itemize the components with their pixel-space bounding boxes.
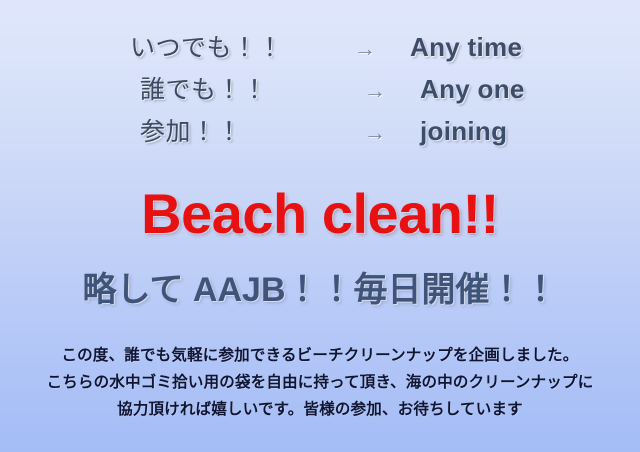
slogan-english-1: Any time	[410, 32, 522, 63]
right-arrow-icon: →	[320, 36, 410, 62]
slogan-english-2: Any one	[420, 74, 525, 105]
slogan-row: いつでも！！ → Any time	[0, 28, 640, 70]
slogan-japanese-1: いつでも！！	[130, 28, 320, 64]
body-copy-line: この度、誰でも気軽に参加できるビーチクリーンナップを企画しました。	[0, 342, 640, 369]
slogan-japanese-3: 参加！！	[130, 112, 330, 148]
body-copy-line: こちらの水中ゴミ拾い用の袋を自由に持って頂き、海の中のクリーンナップに	[0, 369, 640, 396]
slogan-japanese-2: 誰でも！！	[130, 70, 330, 106]
poster-body-copy: この度、誰でも気軽に参加できるビーチクリーンナップを企画しました。 こちらの水中…	[0, 342, 640, 423]
right-arrow-icon: →	[330, 120, 420, 146]
poster-canvas: いつでも！！ → Any time 誰でも！！ → Any one 参加！！ →…	[0, 0, 640, 452]
poster-headline: Beach clean!!	[0, 186, 640, 242]
right-arrow-icon: →	[330, 78, 420, 104]
slogan-row: 誰でも！！ → Any one	[0, 70, 640, 112]
body-copy-line: 協力頂ければ嬉しいです。皆様の参加、お待ちしています	[0, 396, 640, 423]
slogan-block: いつでも！！ → Any time 誰でも！！ → Any one 参加！！ →…	[0, 28, 640, 154]
slogan-row: 参加！！ → joining	[0, 112, 640, 154]
slogan-english-3: joining	[420, 116, 507, 147]
poster-subheadline: 略して AAJB！！毎日開催！！	[0, 272, 640, 309]
